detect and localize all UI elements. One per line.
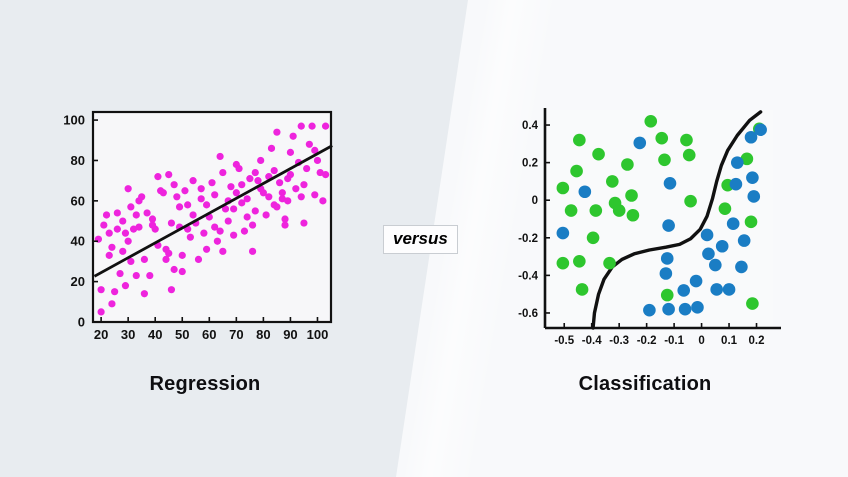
data-point xyxy=(203,201,210,208)
y-axis-tick-label: -0.6 xyxy=(518,308,538,320)
data-point xyxy=(165,171,172,178)
data-point xyxy=(135,224,142,231)
data-point xyxy=(125,185,132,192)
data-point xyxy=(287,149,294,156)
data-point xyxy=(244,213,251,220)
data-point xyxy=(643,304,656,317)
data-point xyxy=(627,209,640,222)
x-axis-tick-label: 0 xyxy=(698,335,704,347)
data-point xyxy=(644,115,657,128)
y-axis-tick-label: 40 xyxy=(71,234,85,249)
y-axis-tick-label: 80 xyxy=(71,153,85,168)
data-point xyxy=(746,171,759,184)
data-point xyxy=(179,268,186,275)
data-point xyxy=(98,308,105,315)
data-point xyxy=(211,224,218,231)
x-axis-tick-label: 80 xyxy=(256,327,270,342)
data-point xyxy=(146,272,153,279)
data-point xyxy=(217,153,224,160)
regression-plot-svg: 2030405060708090100020406080100 xyxy=(60,100,350,340)
x-axis-tick-label: 100 xyxy=(307,327,329,342)
data-point xyxy=(168,219,175,226)
classification-title: Classification xyxy=(500,373,790,396)
data-point xyxy=(171,266,178,273)
data-point xyxy=(557,227,570,240)
data-point xyxy=(241,228,248,235)
data-point xyxy=(701,229,714,242)
data-point xyxy=(125,238,132,245)
data-point xyxy=(252,169,259,176)
data-point xyxy=(176,203,183,210)
versus-badge: versus xyxy=(383,225,458,254)
data-point xyxy=(106,230,113,237)
data-point xyxy=(319,197,326,204)
y-axis-tick-label: 60 xyxy=(71,193,85,208)
data-point xyxy=(273,129,280,136)
y-axis-tick-label: 0.4 xyxy=(522,120,539,132)
data-point xyxy=(621,158,634,171)
data-point xyxy=(189,211,196,218)
data-point xyxy=(114,209,121,216)
data-point xyxy=(298,193,305,200)
data-point xyxy=(249,221,256,228)
data-point xyxy=(709,259,722,272)
data-point xyxy=(573,134,586,147)
data-point xyxy=(662,219,675,232)
data-point xyxy=(227,183,234,190)
data-point xyxy=(322,171,329,178)
data-point xyxy=(189,177,196,184)
data-point xyxy=(214,238,221,245)
data-point xyxy=(606,175,619,188)
data-point xyxy=(587,231,600,244)
data-point xyxy=(211,191,218,198)
data-point xyxy=(108,300,115,307)
data-point xyxy=(680,134,693,147)
data-point xyxy=(141,290,148,297)
data-point xyxy=(679,303,692,316)
data-point xyxy=(298,123,305,130)
data-point xyxy=(284,197,291,204)
data-point xyxy=(162,246,169,253)
data-point xyxy=(735,261,748,274)
data-point xyxy=(300,181,307,188)
data-point xyxy=(200,230,207,237)
data-point xyxy=(303,165,310,172)
data-point xyxy=(268,145,275,152)
data-point xyxy=(98,286,105,293)
data-point xyxy=(290,133,297,140)
data-point xyxy=(271,201,278,208)
data-point xyxy=(103,211,110,218)
data-point xyxy=(683,149,696,162)
data-point xyxy=(557,257,570,270)
data-point xyxy=(252,207,259,214)
data-point xyxy=(122,230,129,237)
data-point xyxy=(691,301,704,314)
x-axis-tick-label: 0.1 xyxy=(721,335,738,347)
data-point xyxy=(160,189,167,196)
data-point xyxy=(198,195,205,202)
data-point xyxy=(603,257,616,270)
data-point xyxy=(254,177,261,184)
data-point xyxy=(133,272,140,279)
data-point xyxy=(565,204,578,217)
x-axis-tick-label: -0.5 xyxy=(554,335,574,347)
x-axis-tick-label: 90 xyxy=(283,327,297,342)
data-point xyxy=(119,248,126,255)
data-point xyxy=(731,156,744,169)
data-point xyxy=(727,217,740,230)
data-point xyxy=(195,256,202,263)
data-point xyxy=(203,246,210,253)
data-point xyxy=(570,165,583,178)
data-point xyxy=(592,148,605,161)
data-point xyxy=(265,193,272,200)
data-point xyxy=(664,177,677,190)
y-axis-tick-label: 0 xyxy=(78,315,85,330)
x-axis-tick-label: 0.2 xyxy=(749,335,765,347)
data-point xyxy=(187,234,194,241)
data-point xyxy=(230,232,237,239)
data-point xyxy=(710,283,723,296)
data-point xyxy=(308,123,315,130)
data-point xyxy=(633,137,646,150)
data-point xyxy=(719,202,732,215)
data-point xyxy=(127,203,134,210)
data-point xyxy=(149,221,156,228)
data-point xyxy=(746,297,759,310)
data-point xyxy=(122,282,129,289)
x-axis-tick-label: 60 xyxy=(202,327,216,342)
data-point xyxy=(116,270,123,277)
data-point xyxy=(716,240,729,253)
data-point xyxy=(181,187,188,194)
data-point xyxy=(677,284,690,297)
data-point xyxy=(171,181,178,188)
data-point xyxy=(613,204,626,217)
data-point xyxy=(662,303,675,316)
data-point xyxy=(133,211,140,218)
y-axis-tick-label: 100 xyxy=(63,113,85,128)
data-point xyxy=(284,175,291,182)
data-point xyxy=(219,169,226,176)
data-point xyxy=(723,283,736,296)
data-point xyxy=(143,209,150,216)
data-point xyxy=(179,252,186,259)
data-point xyxy=(314,157,321,164)
data-point xyxy=(141,256,148,263)
data-point xyxy=(198,185,205,192)
data-point xyxy=(322,123,329,130)
data-point xyxy=(557,182,570,195)
data-point xyxy=(238,181,245,188)
data-point xyxy=(281,215,288,222)
y-axis-tick-label: 0 xyxy=(532,195,538,207)
data-point xyxy=(111,288,118,295)
data-point xyxy=(233,189,240,196)
data-point xyxy=(262,211,269,218)
data-point xyxy=(219,248,226,255)
illustration-canvas: 2030405060708090100020406080100 Regressi… xyxy=(0,0,848,477)
data-point xyxy=(235,165,242,172)
data-point xyxy=(684,195,697,208)
x-axis-tick-label: 40 xyxy=(148,327,162,342)
data-point xyxy=(279,189,286,196)
x-axis-tick-label: 70 xyxy=(229,327,243,342)
data-point xyxy=(738,234,751,247)
classification-chart: -0.5-0.4-0.3-0.2-0.100.10.20.40.20-0.2-0… xyxy=(505,100,805,350)
y-axis-tick-label: 20 xyxy=(71,274,85,289)
data-point xyxy=(249,248,256,255)
data-point xyxy=(173,193,180,200)
data-point xyxy=(246,175,253,182)
y-axis-tick-label: -0.2 xyxy=(518,233,538,245)
data-point xyxy=(661,289,674,302)
data-point xyxy=(655,132,668,145)
y-axis-tick-label: 0.2 xyxy=(522,158,538,170)
data-point xyxy=(730,178,743,191)
x-axis-tick-label: -0.4 xyxy=(582,335,602,347)
x-axis-tick-label: 30 xyxy=(121,327,135,342)
data-point xyxy=(625,189,638,202)
data-point xyxy=(573,255,586,268)
data-point xyxy=(660,267,673,280)
regression-title: Regression xyxy=(60,373,350,396)
data-point xyxy=(576,283,589,296)
data-point xyxy=(690,275,703,288)
data-point xyxy=(257,157,264,164)
data-point xyxy=(106,252,113,259)
data-point xyxy=(311,191,318,198)
data-point xyxy=(168,286,175,293)
data-point xyxy=(702,247,715,260)
x-axis-tick-label: -0.2 xyxy=(637,335,657,347)
data-point xyxy=(154,173,161,180)
data-point xyxy=(745,216,758,229)
data-point xyxy=(225,217,232,224)
data-point xyxy=(244,195,251,202)
data-point xyxy=(108,244,115,251)
classification-plot-svg: -0.5-0.4-0.3-0.2-0.100.10.20.40.20-0.2-0… xyxy=(505,100,805,350)
regression-chart: 2030405060708090100020406080100 xyxy=(60,100,350,340)
data-point xyxy=(300,219,307,226)
data-point xyxy=(306,141,313,148)
data-point xyxy=(661,252,674,265)
data-point xyxy=(100,221,107,228)
data-point xyxy=(579,185,592,198)
data-point xyxy=(590,204,603,217)
data-point xyxy=(658,154,671,167)
x-axis-tick-label: -0.3 xyxy=(609,335,629,347)
data-point xyxy=(276,179,283,186)
data-point xyxy=(754,123,767,136)
data-point xyxy=(114,226,121,233)
data-point xyxy=(135,197,142,204)
data-point xyxy=(271,167,278,174)
x-axis-tick-label: 20 xyxy=(94,327,108,342)
data-point xyxy=(119,217,126,224)
y-axis-tick-label: -0.4 xyxy=(518,270,538,282)
x-axis-tick-label: 50 xyxy=(175,327,189,342)
data-point xyxy=(208,179,215,186)
data-point xyxy=(184,201,191,208)
data-point xyxy=(230,205,237,212)
x-axis-tick-label: -0.1 xyxy=(664,335,684,347)
data-point xyxy=(292,185,299,192)
data-point xyxy=(747,190,760,203)
